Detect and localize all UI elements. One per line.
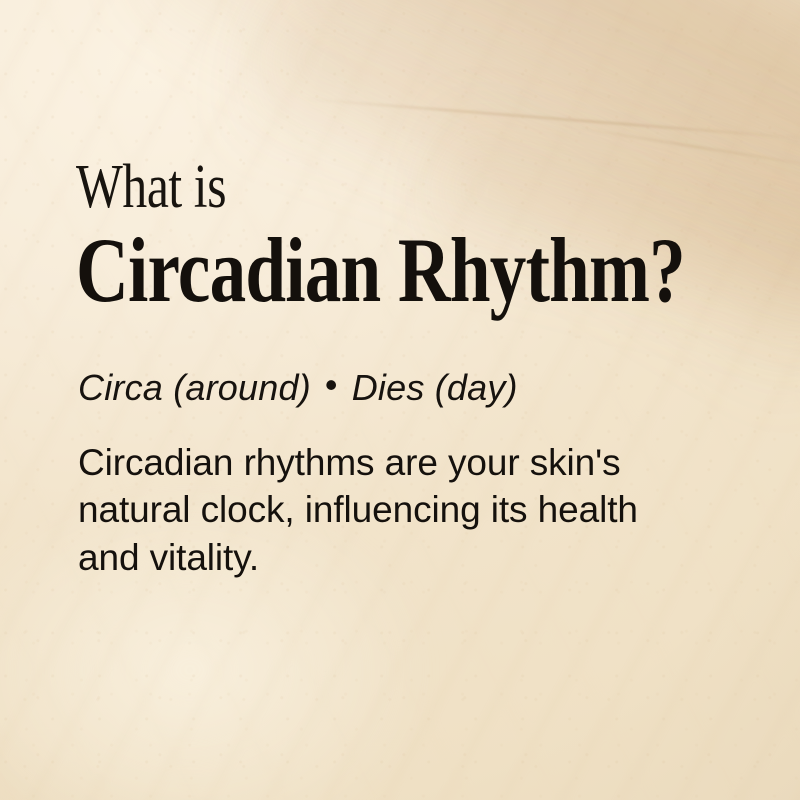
etymology-right: Dies (day) bbox=[352, 367, 518, 408]
bullet-separator-icon: • bbox=[311, 365, 352, 405]
graphic-canvas: What is Circadian Rhythm? Circa (around)… bbox=[0, 0, 800, 800]
page-title: Circadian Rhythm? bbox=[76, 224, 625, 316]
description-text: Circadian rhythms are your skin's natura… bbox=[78, 439, 703, 581]
etymology-line: Circa (around)•Dies (day) bbox=[78, 368, 766, 408]
eyebrow-text: What is bbox=[76, 158, 628, 218]
text-block: What is Circadian Rhythm? Circa (around)… bbox=[76, 158, 766, 581]
etymology-left: Circa (around) bbox=[78, 367, 311, 408]
